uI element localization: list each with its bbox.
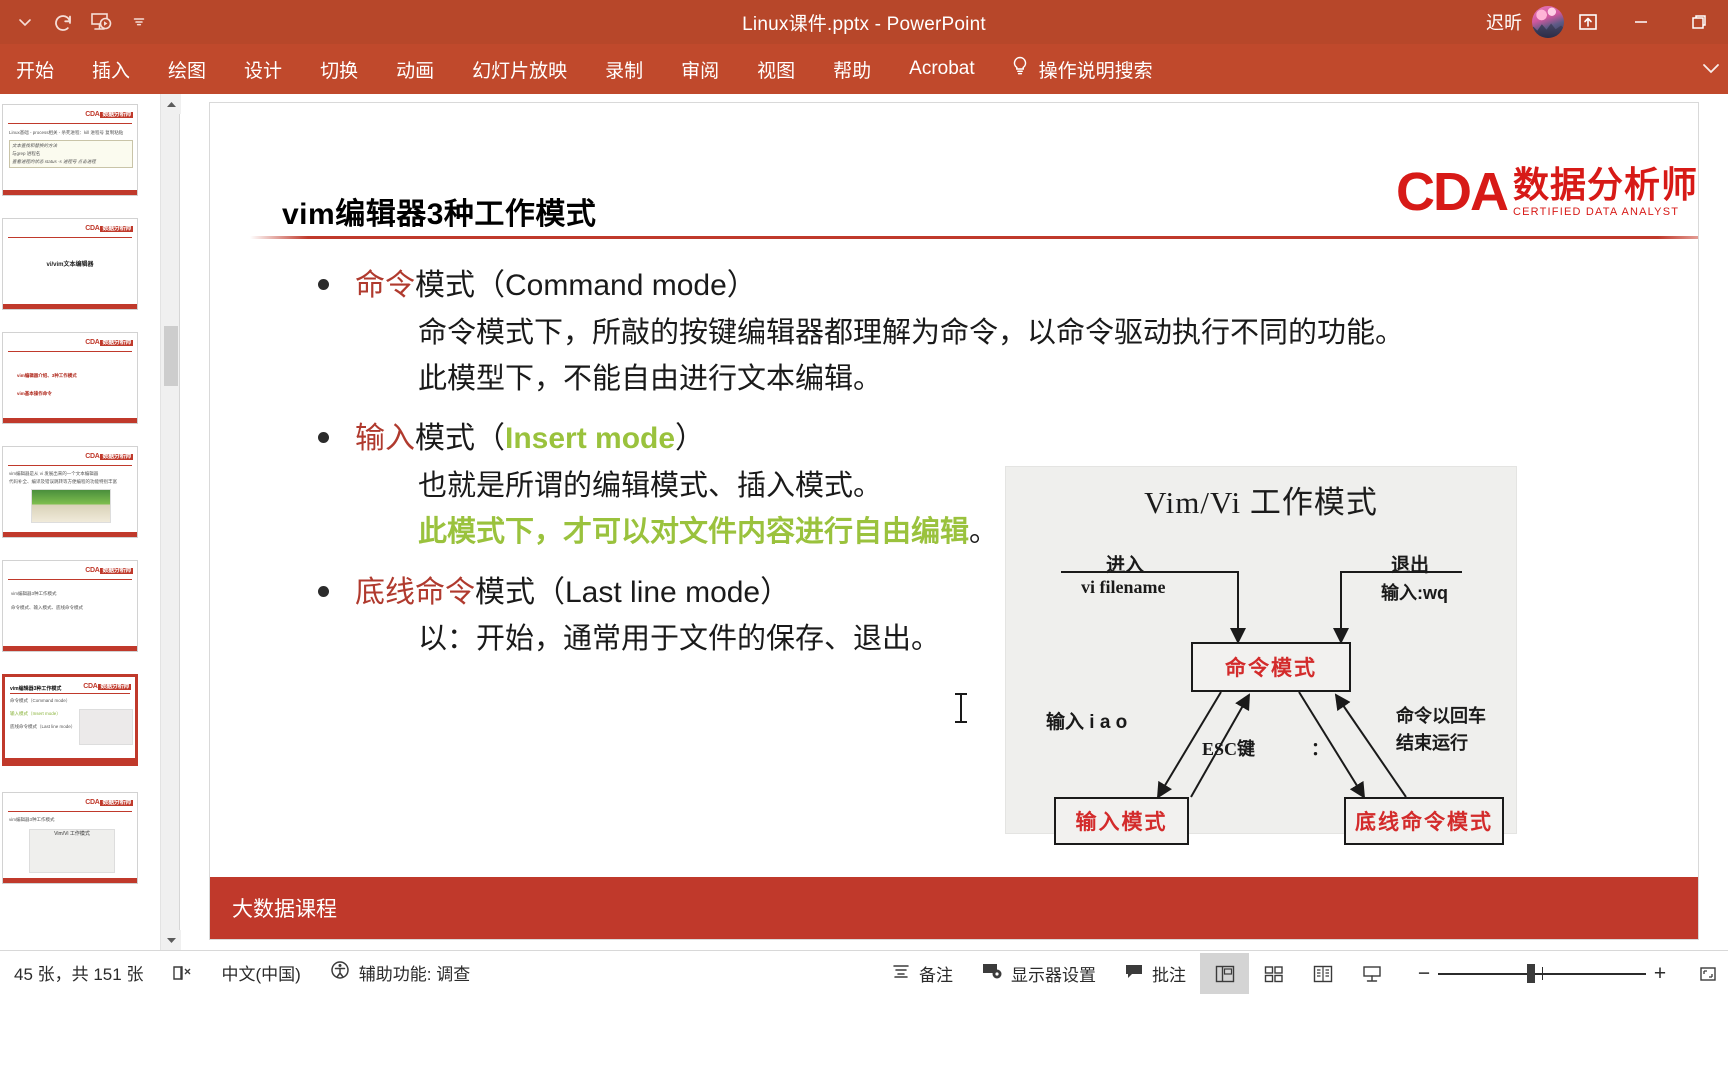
bullet-heading-rest: 模式（Last line mode） xyxy=(475,576,790,609)
document-title: Linux课件.pptx - PowerPoint xyxy=(0,9,1728,36)
thumb-logo: CDA数据分析师 xyxy=(85,223,133,232)
cda-logo-cn: 数据分析师 xyxy=(1513,167,1698,203)
status-bar: 45 张，共 151 张 中文(中国) 辅助功能: 调查 xyxy=(0,950,1728,1080)
tab-draw[interactable]: 绘图 xyxy=(149,44,225,94)
comments-button[interactable]: 批注 xyxy=(1110,952,1200,995)
user-name[interactable]: 迟昕 xyxy=(1486,9,1522,35)
work-area: CDA数据分析师 Linux基础 - process相关 - 杀死进程：kill… xyxy=(0,94,1728,950)
thumb-footer-band xyxy=(3,190,137,195)
accessibility-label: 辅助功能: 调查 xyxy=(359,960,470,985)
title-divider xyxy=(250,236,1699,239)
thumb-rule xyxy=(8,465,132,466)
input-iao-label: 输入 i a o xyxy=(1046,707,1127,734)
thumb-footer-band xyxy=(3,646,137,651)
lastline-mode-box: 底线命令模式 xyxy=(1344,797,1504,845)
bullet-sub-green: 此模式下，才可以对文件内容进行自由编辑 xyxy=(418,516,969,548)
bullet-heading-rest: 模式（Command mode） xyxy=(415,269,757,302)
thumb-text: vim编辑器是从 vi 发展出来的一个文本编辑器 xyxy=(9,471,133,478)
page-title[interactable]: vim编辑器3种工作模式 xyxy=(282,189,596,233)
display-settings-icon xyxy=(981,961,1003,986)
thumb-logo: CDA数据分析师 xyxy=(85,797,133,806)
tab-transitions[interactable]: 切换 xyxy=(301,44,377,94)
comment-icon xyxy=(1124,962,1144,985)
bullet-heading: 输入模式（Insert mode） xyxy=(355,416,705,463)
notes-icon xyxy=(891,962,911,985)
bullet-heading-pre: 模式（ xyxy=(415,422,505,455)
thumb-logo: CDA数据分析师 xyxy=(85,337,133,346)
share-icon[interactable] xyxy=(1564,0,1612,44)
thumb-rule xyxy=(8,237,132,238)
thumb-footer-band xyxy=(3,532,137,537)
list-item[interactable]: CDA数据分析师 vim编辑器3种工作模式 Vim/Vi 工作模式 xyxy=(2,792,138,884)
list-item[interactable]: CDA数据分析师 vim编辑器3种工作模式 命令模式、输入模式、底线命令模式 xyxy=(2,560,138,652)
bullet-sub: 命令模式下，所敲的按键编辑器都理解为命令，以命令驱动执行不同的功能。 xyxy=(418,310,1498,356)
thumb-text: 代码补全、编译及错误跳转等方便编程的功能特别丰富 xyxy=(9,479,133,486)
thumb-footer-band xyxy=(3,878,137,883)
list-item-selected[interactable]: CDA数据分析师 vim编辑器3种工作模式 命令模式（Command mode）… xyxy=(2,674,138,766)
bullet-item[interactable]: 命令模式（Command mode） xyxy=(318,263,1498,310)
bullet-heading-post: ） xyxy=(675,422,705,455)
fit-slide-icon[interactable] xyxy=(1688,965,1728,983)
zoom-in-button[interactable]: + xyxy=(1646,962,1674,986)
accessibility-status[interactable]: 辅助功能: 调查 xyxy=(315,951,484,994)
vim-modes-diagram[interactable]: Vim/Vi 工作模式 xyxy=(1005,466,1517,834)
slide-count[interactable]: 45 张，共 151 张 xyxy=(0,951,157,994)
scrollbar-thumb[interactable] xyxy=(164,326,178,386)
avatar[interactable] xyxy=(1532,6,1564,38)
tell-me-search[interactable]: 操作说明搜索 xyxy=(994,44,1165,94)
colon-label: ： xyxy=(1311,735,1329,761)
normal-view-icon[interactable] xyxy=(1200,953,1249,994)
text-cursor xyxy=(960,693,962,723)
enter-run-label-2: 结束运行 xyxy=(1396,729,1468,755)
thumb-image xyxy=(31,489,111,523)
thumb-text: vim基本操作命令 xyxy=(17,391,52,398)
insert-mode-box: 输入模式 xyxy=(1054,797,1189,845)
tab-animations[interactable]: 动画 xyxy=(377,44,453,94)
comments-label: 批注 xyxy=(1152,961,1186,986)
ribbon-tabs: 开始 插入 绘图 设计 切换 动画 幻灯片放映 录制 审阅 视图 帮助 Acro… xyxy=(0,44,1728,94)
lightbulb-icon xyxy=(1010,55,1030,83)
bullet-dot-icon xyxy=(318,279,329,290)
enter-run-label-1: 命令以回车 xyxy=(1396,702,1486,728)
bullet-heading-red: 输入 xyxy=(355,422,415,455)
ribbon-collapse-icon[interactable] xyxy=(1698,44,1724,94)
undo-icon[interactable] xyxy=(44,5,82,39)
minimize-button[interactable] xyxy=(1612,0,1670,44)
command-mode-box: 命令模式 xyxy=(1191,642,1351,692)
thumb-text: vim编辑器介绍、3种工作模式 xyxy=(17,373,77,380)
bullet-sub: 此模型下，不能自由进行文本编辑。 xyxy=(418,356,1498,402)
thumb-footer-band xyxy=(3,304,137,309)
thumb-text: 文本查找和替换的方法 xyxy=(12,143,128,150)
cda-logo-sub: CERTIFIED DATA ANALYST xyxy=(1513,206,1698,218)
thumb-text: vim编辑器3种工作模式 xyxy=(9,817,133,824)
title-bar: Linux课件.pptx - PowerPoint 迟昕 xyxy=(0,0,1728,44)
zoom-slider-knob[interactable] xyxy=(1527,964,1535,983)
enter-label: 进入 xyxy=(1106,550,1144,577)
list-item[interactable]: CDA数据分析师 vi/vim文本编辑器 xyxy=(2,218,138,310)
slide-thumbnail-pane[interactable]: CDA数据分析师 Linux基础 - process相关 - 杀死进程：kill… xyxy=(0,94,160,950)
thumb-footer-band xyxy=(3,418,137,423)
display-settings-button[interactable]: 显示器设置 xyxy=(967,952,1110,995)
zoom-out-button[interactable]: − xyxy=(1410,962,1438,986)
thumb-text: Vim/Vi 工作模式 xyxy=(29,831,115,839)
thumb-text: 与grep 进程名 xyxy=(12,151,128,158)
tab-view[interactable]: 视图 xyxy=(738,44,814,94)
thumb-title: vim编辑器3种工作模式 xyxy=(10,686,61,694)
display-settings-label: 显示器设置 xyxy=(1011,961,1096,986)
tell-me-label: 操作说明搜索 xyxy=(1039,56,1153,83)
thumb-image xyxy=(79,709,133,745)
quick-access-toolbar xyxy=(0,5,158,39)
bullet-item[interactable]: 输入模式（Insert mode） xyxy=(318,416,1498,463)
slideshow-view-icon[interactable] xyxy=(1347,953,1396,994)
tab-help[interactable]: 帮助 xyxy=(814,44,890,94)
slide-sorter-icon[interactable] xyxy=(1249,953,1298,994)
thumb-text: vim编辑器3种工作模式 xyxy=(11,591,131,598)
spellcheck-icon[interactable] xyxy=(157,951,207,994)
list-item[interactable]: CDA数据分析师 vim编辑器介绍、3种工作模式 vim基本操作命令 xyxy=(2,332,138,424)
list-item[interactable]: CDA数据分析师 Linux基础 - process相关 - 杀死进程：kill… xyxy=(2,104,138,196)
notes-button[interactable]: 备注 xyxy=(877,952,967,995)
bullet-heading-red: 命令 xyxy=(355,269,415,302)
thumb-text: 输入模式（Insert mode） xyxy=(10,711,90,718)
thumb-logo: CDA数据分析师 xyxy=(83,681,131,690)
thumb-title: vi/vim文本编辑器 xyxy=(3,261,137,270)
tab-home[interactable]: 开始 xyxy=(0,44,73,94)
notes-label: 备注 xyxy=(919,961,953,986)
zoom-control[interactable]: − + xyxy=(1396,962,1688,986)
thumb-rule xyxy=(8,579,132,580)
slide-footer-band: 大数据课程 xyxy=(210,877,1698,939)
thumb-text: Linux基础 - process相关 - 杀死进程：kill 进程号 复制粘贴 xyxy=(9,130,133,137)
slide-footer-text: 大数据课程 xyxy=(232,893,337,923)
bullet-heading-red: 底线命令 xyxy=(355,576,475,609)
qat-more-icon[interactable] xyxy=(120,5,158,39)
vi-filename-label: vi filename xyxy=(1081,577,1165,598)
accessibility-icon xyxy=(329,959,351,986)
zoom-slider-tick xyxy=(1542,967,1543,980)
bullet-heading: 命令模式（Command mode） xyxy=(355,263,757,310)
tab-slideshow[interactable]: 幻灯片放映 xyxy=(453,44,586,94)
tab-review[interactable]: 审阅 xyxy=(662,44,738,94)
customize-qat-icon[interactable] xyxy=(6,5,44,39)
tab-acrobat[interactable]: Acrobat xyxy=(890,44,993,94)
cda-mark: CDA xyxy=(1396,165,1507,219)
slide-canvas-area[interactable]: CDA 数据分析师 CERTIFIED DATA ANALYST vim编辑器3… xyxy=(181,94,1728,950)
thumb-logo: CDA数据分析师 xyxy=(85,451,133,460)
thumb-text: 查看进程的状态 status -s 进程号 点击进程 xyxy=(12,159,128,166)
thumb-rule xyxy=(8,123,132,124)
thumb-rule xyxy=(8,811,132,812)
slideshow-icon[interactable] xyxy=(82,5,120,39)
cda-logo: CDA 数据分析师 CERTIFIED DATA ANALYST xyxy=(1396,161,1698,223)
wq-label: 输入:wq xyxy=(1381,579,1448,605)
language-indicator[interactable]: 中文(中国) xyxy=(207,951,314,994)
list-item[interactable]: CDA数据分析师 vim编辑器是从 vi 发展出来的一个文本编辑器 代码补全、编… xyxy=(2,446,138,538)
reading-view-icon[interactable] xyxy=(1298,953,1347,994)
tab-design[interactable]: 设计 xyxy=(225,44,301,94)
thumb-footer-band xyxy=(5,758,135,763)
thumb-logo: CDA数据分析师 xyxy=(85,565,133,574)
tab-record[interactable]: 录制 xyxy=(586,44,662,94)
bullet-dot-icon xyxy=(318,586,329,597)
esc-label: ESC键 xyxy=(1202,735,1255,761)
thumbnail-scrollbar[interactable] xyxy=(160,94,180,950)
restore-button[interactable] xyxy=(1670,0,1728,44)
thumb-rule xyxy=(8,351,132,352)
chevron-down-icon[interactable] xyxy=(161,930,181,950)
bullet-heading-green: Insert mode xyxy=(505,422,675,455)
current-slide[interactable]: CDA 数据分析师 CERTIFIED DATA ANALYST vim编辑器3… xyxy=(209,102,1699,940)
thumb-text: 底线命令模式（Last line mode） xyxy=(10,724,90,731)
bullet-dot-icon xyxy=(318,432,329,443)
tab-insert[interactable]: 插入 xyxy=(73,44,149,94)
thumb-logo: CDA数据分析师 xyxy=(85,109,133,118)
zoom-slider[interactable] xyxy=(1438,964,1646,984)
thumb-text: 命令模式（Command mode） xyxy=(10,698,90,705)
bullet-sub-tail: 。 xyxy=(969,516,998,548)
bullet-heading: 底线命令模式（Last line mode） xyxy=(355,570,790,617)
chevron-up-icon[interactable] xyxy=(161,94,181,114)
thumb-text: 命令模式、输入模式、底线命令模式 xyxy=(11,605,131,612)
exit-label: 退出 xyxy=(1391,550,1429,577)
